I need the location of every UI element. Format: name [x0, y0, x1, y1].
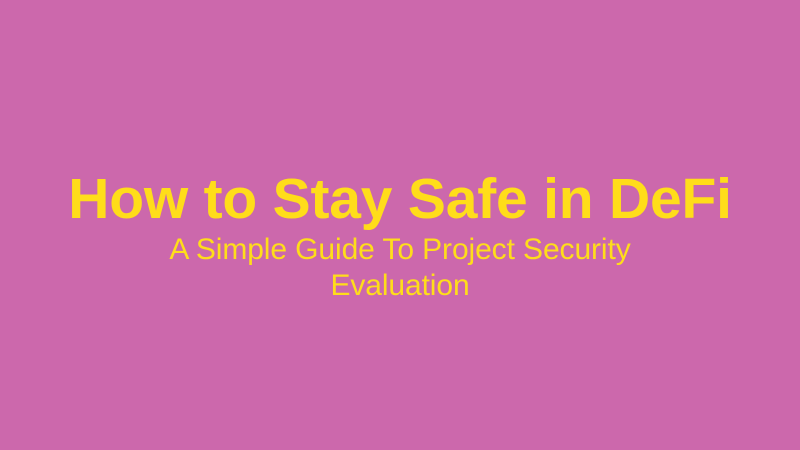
slide-subtitle: A Simple Guide To Project Security Evalu…: [100, 232, 700, 304]
subtitle-line-2: Evaluation: [100, 268, 700, 304]
title-slide: How to Stay Safe in DeFi A Simple Guide …: [0, 0, 800, 450]
page-title: How to Stay Safe in DeFi: [0, 165, 800, 233]
slide-content: How to Stay Safe in DeFi A Simple Guide …: [0, 0, 800, 450]
subtitle-line-1: A Simple Guide To Project Security: [100, 232, 700, 268]
